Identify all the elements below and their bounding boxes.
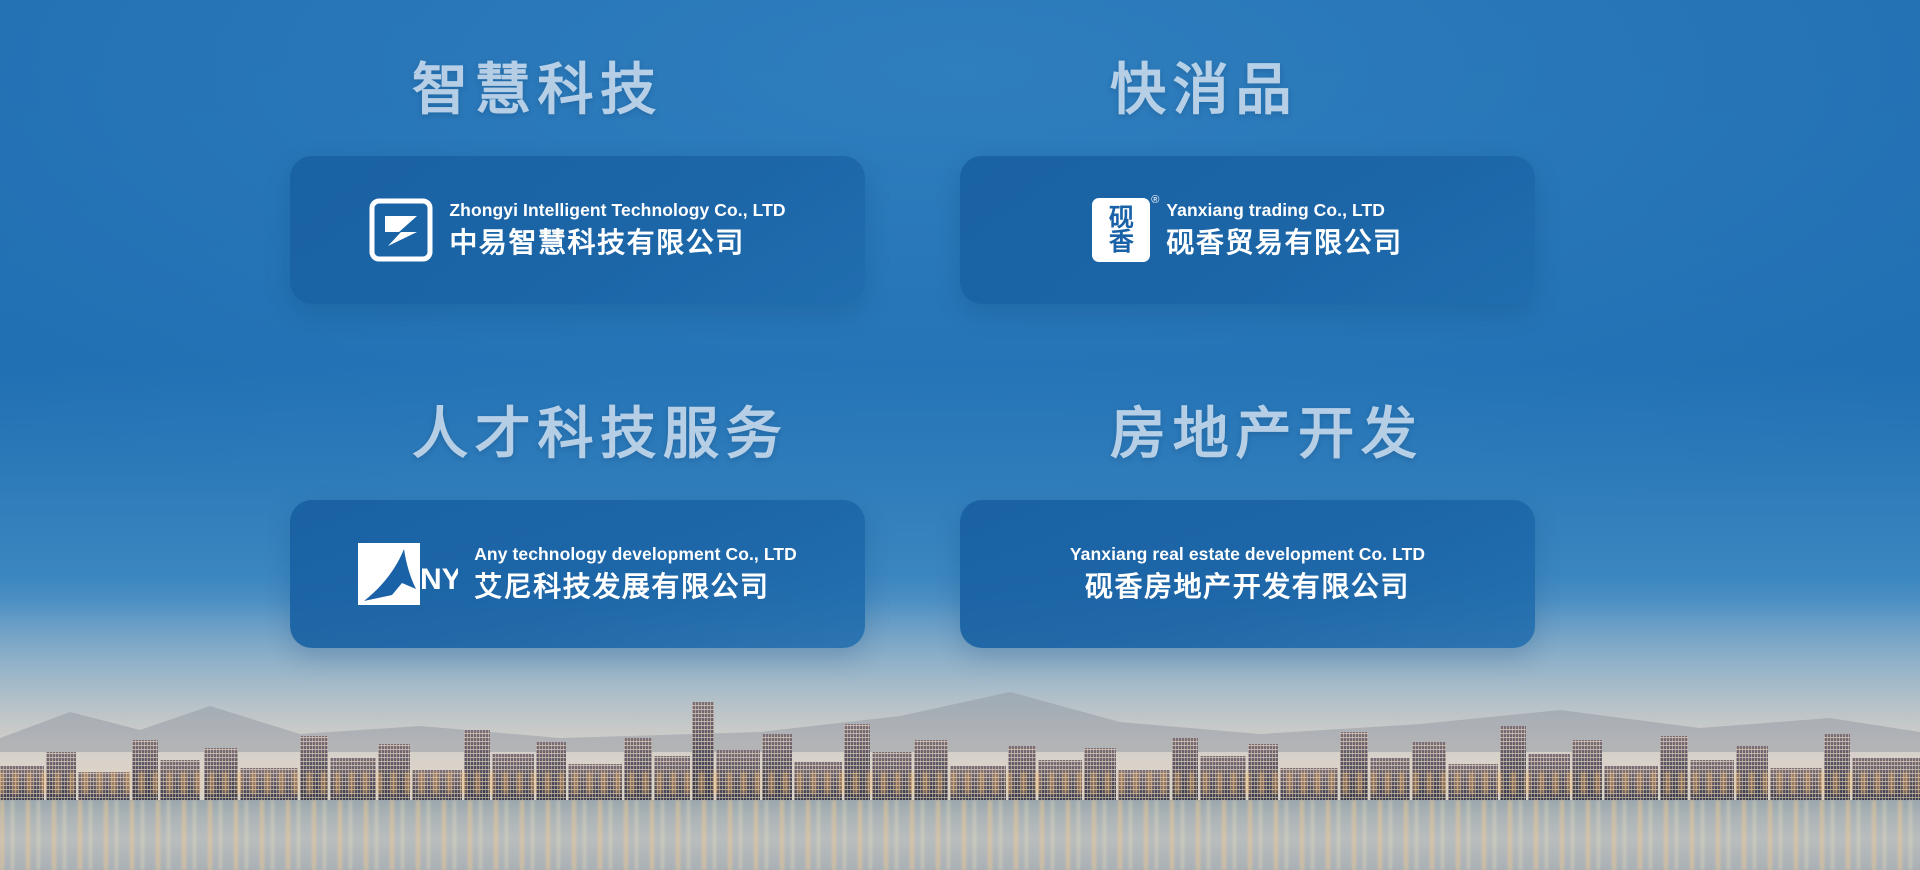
company-name-block: Zhongyi Intelligent Technology Co., LTD … [449,199,785,261]
sector-smart-technology: 智慧科技 Zhongyi Intelligent Technology Co.,… [290,62,960,406]
sector-talent-services: 人才科技服务 NY Any technology development Co.… [290,406,960,750]
zhongyi-logo [369,198,433,262]
seal-char-bottom: 香 [1109,230,1134,255]
company-card-yanxiang-trading[interactable]: ® 砚 香 Yanxiang trading Co., LTD 砚香贸易有限公司 [960,156,1535,304]
company-card-zhongyi[interactable]: Zhongyi Intelligent Technology Co., LTD … [290,156,865,304]
sector-title: 人才科技服务 [412,406,960,462]
company-name-block: Yanxiang real estate development Co. LTD… [1070,543,1425,605]
company-name-cn: 中易智慧科技有限公司 [449,225,785,261]
svg-text:NY: NY [420,563,458,596]
sector-title: 房地产开发 [1110,406,1630,462]
page-root: 智慧科技 Zhongyi Intelligent Technology Co.,… [0,0,1920,870]
company-name-en: Zhongyi Intelligent Technology Co., LTD [449,199,785,223]
company-name-cn: 砚香贸易有限公司 [1166,225,1402,261]
sector-title: 快消品 [1110,62,1630,118]
company-name-cn: 艾尼科技发展有限公司 [474,569,797,605]
company-card-any[interactable]: NY Any technology development Co., LTD 艾… [290,500,865,648]
company-name-cn: 砚香房地产开发有限公司 [1085,569,1410,605]
registered-mark-icon: ® [1151,195,1159,206]
company-name-en: Yanxiang trading Co., LTD [1166,199,1402,223]
sector-title: 智慧科技 [412,62,960,118]
company-name-en: Yanxiang real estate development Co. LTD [1070,543,1425,567]
business-sectors-grid: 智慧科技 Zhongyi Intelligent Technology Co.,… [0,0,1920,870]
any-logo: NY [358,543,458,605]
company-card-yanxiang-real-estate[interactable]: Yanxiang real estate development Co. LTD… [960,500,1535,648]
company-name-en: Any technology development Co., LTD [474,543,797,567]
company-name-block: Any technology development Co., LTD 艾尼科技… [474,543,797,605]
yanxiang-seal-logo: ® 砚 香 [1092,198,1150,262]
company-name-block: Yanxiang trading Co., LTD 砚香贸易有限公司 [1166,199,1402,261]
sector-fmcg: 快消品 ® 砚 香 Yanxiang trading Co., LTD 砚香贸易… [960,62,1630,406]
sector-real-estate: 房地产开发 Yanxiang real estate development C… [960,406,1630,750]
